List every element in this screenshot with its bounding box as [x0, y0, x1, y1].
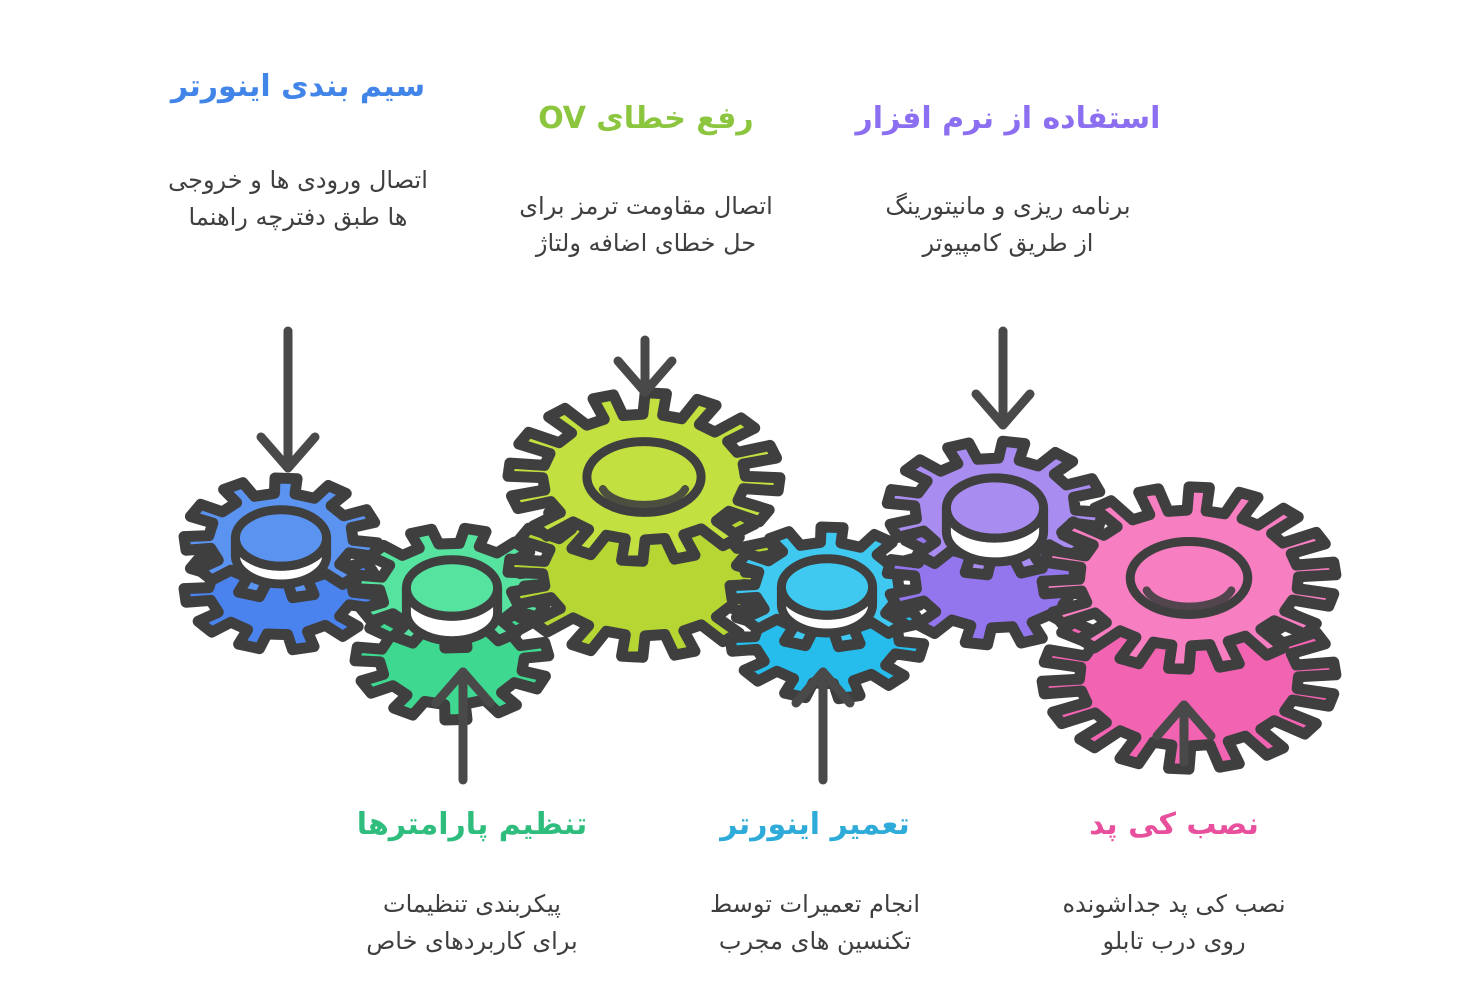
- arrow-down-to-blue-gear: [261, 331, 315, 468]
- arrow-up-to-green-gear: [436, 672, 490, 780]
- infographic-canvas: سیم بندی اینورتر اتصال ورودی ها و خروجیه…: [0, 0, 1476, 986]
- arrow-down-to-purple-gear: [976, 331, 1030, 425]
- arrow-up-to-cyan-gear: [796, 672, 850, 780]
- arrows-layer: [0, 0, 1476, 986]
- arrow-up-to-pink-gear: [1157, 705, 1211, 762]
- arrow-down-to-lime-gear: [618, 340, 672, 392]
